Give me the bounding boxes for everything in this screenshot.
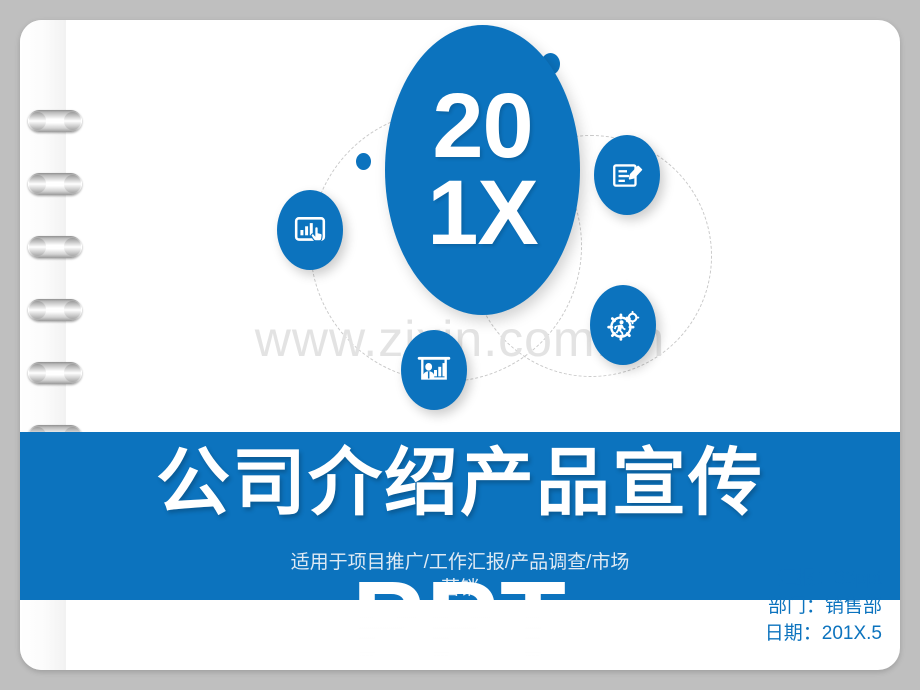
spiral-binding-ring — [28, 299, 82, 321]
spiral-binding-ring — [28, 110, 82, 132]
bubble-presenter-chart[interactable] — [401, 330, 467, 410]
presenter-chart-board-icon — [417, 353, 451, 387]
spiral-binding-ring — [28, 362, 82, 384]
subtitle-line-2: 营销 — [441, 578, 479, 599]
meta-department: 部门：销售部 — [765, 593, 882, 621]
spiral-binding-ring — [28, 236, 82, 258]
bubble-document-edit[interactable] — [594, 135, 660, 215]
slide-card: 201X www.zixin.com.cn — [20, 20, 900, 670]
subtitle-line-1: 适用于项目推广/工作汇报/产品调查/市场 — [291, 552, 630, 573]
decorative-dot-left — [356, 153, 371, 170]
page-title: 公司介绍产品宣传 — [20, 446, 900, 520]
year-label: 201X — [408, 83, 558, 258]
gear-person-walking-icon — [606, 308, 640, 342]
bubble-tablet-chart[interactable] — [277, 190, 343, 270]
meta-info: 汇报：33ppt 部门：销售部 日期：201X.5 — [765, 565, 882, 648]
meta-reporter: 汇报：33ppt — [765, 565, 882, 593]
tablet-chart-touch-icon — [293, 213, 327, 247]
year-bubble: 201X — [385, 25, 580, 315]
spiral-binding-ring — [28, 173, 82, 195]
meta-date: 日期：201X.5 — [765, 620, 882, 648]
bubble-gear-person[interactable] — [590, 285, 656, 365]
document-pen-edit-icon — [610, 158, 644, 192]
